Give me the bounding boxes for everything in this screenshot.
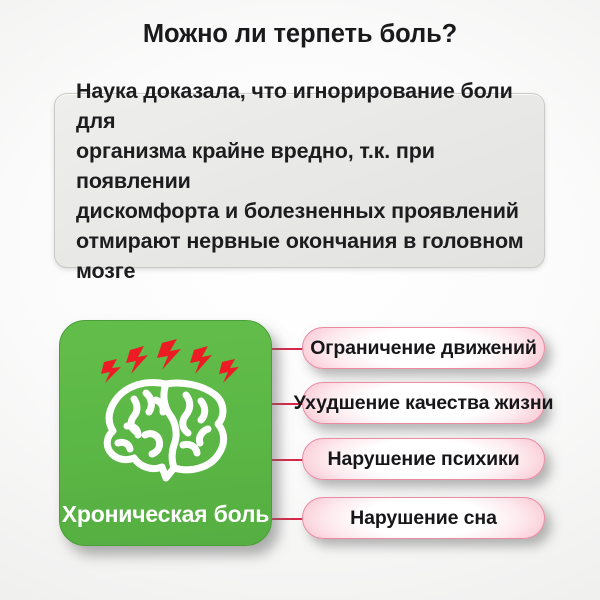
consequence-label-3: Нарушение психики xyxy=(327,448,519,471)
statement-text: Наука доказала, что игнорирование боли д… xyxy=(55,76,544,286)
page-title: Можно ли терпеть боль? xyxy=(0,20,600,49)
infographic-canvas: Можно ли терпеть боль? Наука доказала, ч… xyxy=(0,0,600,600)
statement-panel: Наука доказала, что игнорирование боли д… xyxy=(54,93,545,268)
consequence-label-2: Ухудшение качества жизни xyxy=(294,392,554,415)
consequence-pill-4[interactable]: Нарушение сна xyxy=(302,497,545,539)
chronic-pain-label: Хроническая боль xyxy=(60,501,271,528)
consequence-pill-2[interactable]: Ухудшение качества жизни xyxy=(302,382,545,424)
consequence-pill-3[interactable]: Нарушение психики xyxy=(302,438,545,480)
chronic-pain-card[interactable]: Хроническая боль xyxy=(59,320,272,546)
consequence-label-1: Ограничение движений xyxy=(310,337,537,360)
consequence-label-4: Нарушение сна xyxy=(350,507,497,530)
consequence-pill-1[interactable]: Ограничение движений xyxy=(302,327,545,369)
brain-icon xyxy=(82,337,250,487)
lightning-bolt-icon xyxy=(101,339,239,383)
